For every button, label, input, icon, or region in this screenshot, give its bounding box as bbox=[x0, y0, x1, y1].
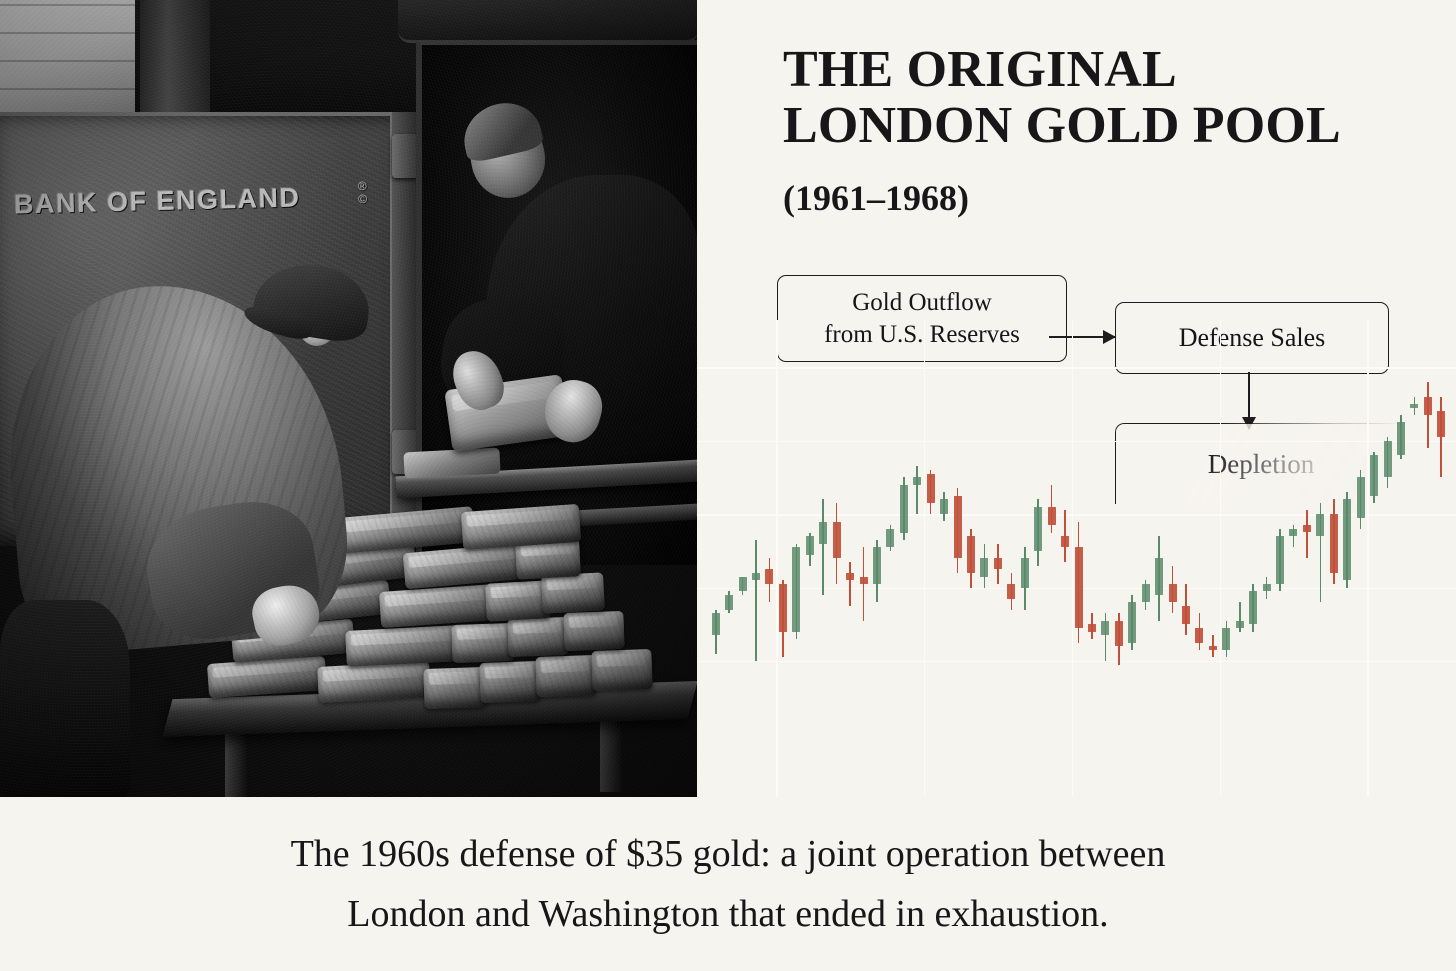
right-panel: THE ORIGINAL LONDON GOLD POOL (1961–1968… bbox=[697, 0, 1456, 797]
candlestick-body bbox=[913, 477, 921, 484]
candlestick bbox=[873, 320, 881, 797]
trolley-leg bbox=[600, 712, 622, 792]
candlestick-body bbox=[1437, 411, 1445, 437]
candlestick-body bbox=[1169, 584, 1177, 602]
candlestick bbox=[712, 320, 720, 797]
candlestick bbox=[967, 320, 975, 797]
candlestick-body bbox=[1357, 477, 1365, 517]
candlestick-body bbox=[994, 558, 1002, 569]
candlestick-body bbox=[1182, 606, 1190, 624]
candlestick bbox=[1276, 320, 1284, 797]
candlestick bbox=[1075, 320, 1083, 797]
candlestick-body bbox=[846, 573, 854, 580]
chart-gridline-vertical bbox=[1072, 320, 1074, 797]
candlestick-body bbox=[1128, 602, 1136, 642]
caption-bar: The 1960s defense of $35 gold: a joint o… bbox=[0, 797, 1456, 971]
candlestick bbox=[886, 320, 894, 797]
candlestick-body bbox=[1343, 499, 1351, 580]
chart-gridline-vertical bbox=[1367, 320, 1369, 797]
candlestick bbox=[1263, 320, 1271, 797]
candlestick bbox=[1128, 320, 1136, 797]
candlestick-body bbox=[940, 499, 948, 514]
candlestick-body bbox=[725, 595, 733, 610]
title-line-2: LONDON GOLD POOL bbox=[783, 98, 1456, 154]
candlestick-body bbox=[954, 496, 962, 558]
caption-line-2: London and Washington that ended in exha… bbox=[347, 893, 1108, 935]
candlestick-body bbox=[927, 474, 935, 503]
candlestick-body bbox=[980, 558, 988, 576]
candlestick bbox=[833, 320, 841, 797]
candlestick bbox=[1101, 320, 1109, 797]
gold-bar bbox=[507, 617, 568, 657]
candlestick-body bbox=[1034, 507, 1042, 551]
page-title: THE ORIGINAL LONDON GOLD POOL bbox=[783, 42, 1456, 154]
candlestick bbox=[980, 320, 988, 797]
copyright-mark-icon: © bbox=[358, 193, 367, 206]
candlestick-body bbox=[1384, 441, 1392, 478]
title-years: (1961–1968) bbox=[783, 178, 969, 218]
candlestick bbox=[1222, 320, 1230, 797]
candlestick bbox=[1021, 320, 1029, 797]
candlestick-body bbox=[1289, 529, 1297, 536]
candlestick bbox=[752, 320, 760, 797]
candlestick-body bbox=[1424, 397, 1432, 415]
archival-vault-photo: BANK OF ENGLAND ® © bbox=[0, 0, 697, 797]
candlestick-wick bbox=[822, 499, 824, 594]
candlestick bbox=[900, 320, 908, 797]
candlestick-body bbox=[712, 613, 720, 635]
candlestick bbox=[1007, 320, 1015, 797]
candlestick bbox=[954, 320, 962, 797]
gold-bar bbox=[345, 625, 463, 667]
candlestick-wick bbox=[755, 540, 757, 661]
candlestick-body bbox=[1397, 422, 1405, 455]
title-line-1: THE ORIGINAL bbox=[783, 41, 1177, 98]
candlestick-wick bbox=[863, 547, 865, 620]
candlestick-body bbox=[1155, 558, 1163, 595]
candlestick bbox=[1289, 320, 1297, 797]
candlestick-body bbox=[1115, 621, 1123, 647]
foreground-worker-leg bbox=[0, 600, 130, 797]
candlestick-body bbox=[1370, 455, 1378, 495]
candlestick bbox=[1115, 320, 1123, 797]
candlestick bbox=[927, 320, 935, 797]
vault-trademark-marks: ® © bbox=[358, 180, 367, 206]
gold-bar bbox=[591, 649, 652, 691]
vault-hinge-upper bbox=[392, 134, 418, 178]
candlestick bbox=[1357, 320, 1365, 797]
candlestick bbox=[806, 320, 814, 797]
candlestick bbox=[1088, 320, 1096, 797]
candlestick bbox=[1303, 320, 1311, 797]
candlestick-body bbox=[1101, 621, 1109, 636]
candlestick-body bbox=[900, 485, 908, 533]
candlestick bbox=[765, 320, 773, 797]
candlestick-body bbox=[806, 536, 814, 554]
candlestick bbox=[1384, 320, 1392, 797]
candlestick bbox=[1343, 320, 1351, 797]
candlestick bbox=[725, 320, 733, 797]
candlestick-body bbox=[765, 569, 773, 584]
candlestick bbox=[1437, 320, 1445, 797]
candlestick-body bbox=[833, 522, 841, 559]
candlestick bbox=[1048, 320, 1056, 797]
candlestick bbox=[1424, 320, 1432, 797]
gold-bar bbox=[317, 661, 431, 703]
candlestick-wick bbox=[1440, 397, 1442, 478]
candlestick-body bbox=[967, 536, 975, 573]
candlestick-body bbox=[779, 584, 787, 632]
candlestick-body bbox=[752, 573, 760, 580]
candlestick-body bbox=[886, 529, 894, 547]
candlestick-wick bbox=[1306, 510, 1308, 558]
candlestick-body bbox=[1330, 514, 1338, 573]
candlestick bbox=[1410, 320, 1418, 797]
caption-text: The 1960s defense of $35 gold: a joint o… bbox=[291, 824, 1166, 944]
candlestick bbox=[1169, 320, 1177, 797]
candlestick bbox=[779, 320, 787, 797]
photo-scene: BANK OF ENGLAND ® © bbox=[0, 0, 697, 797]
candlestick bbox=[860, 320, 868, 797]
candlestick bbox=[1370, 320, 1378, 797]
candlestick bbox=[1142, 320, 1150, 797]
candlestick-wick bbox=[1427, 382, 1429, 448]
gold-bar bbox=[379, 584, 497, 628]
gold-bar bbox=[563, 611, 624, 651]
gold-bar-on-shelf bbox=[403, 448, 500, 479]
candlestick bbox=[1249, 320, 1257, 797]
candlestick-body bbox=[1303, 525, 1311, 532]
candlestick-body bbox=[1021, 558, 1029, 587]
candlestick-wick bbox=[916, 466, 918, 514]
candlestick-body bbox=[819, 522, 827, 544]
candlestick bbox=[1155, 320, 1163, 797]
candlestick bbox=[1397, 320, 1405, 797]
candlestick bbox=[994, 320, 1002, 797]
caption-line-1: The 1960s defense of $35 gold: a joint o… bbox=[291, 833, 1166, 875]
gold-bar bbox=[423, 667, 486, 709]
infographic-canvas: BANK OF ENGLAND ® © bbox=[0, 0, 1456, 971]
candlestick-body bbox=[1222, 628, 1230, 650]
candlestick bbox=[1330, 320, 1338, 797]
candlestick bbox=[1236, 320, 1244, 797]
candlestick bbox=[792, 320, 800, 797]
gold-bar bbox=[207, 656, 327, 698]
candlestick-body bbox=[1410, 404, 1418, 408]
candlestick bbox=[940, 320, 948, 797]
stone-pillar bbox=[140, 0, 210, 120]
candlestick-body bbox=[1195, 628, 1203, 643]
gold-bar bbox=[451, 623, 514, 663]
vault-arch bbox=[398, 0, 697, 43]
candlestick bbox=[913, 320, 921, 797]
candlestick-body bbox=[1209, 646, 1217, 650]
candlestick-body bbox=[1142, 584, 1150, 602]
gold-price-candlestick-chart bbox=[697, 320, 1456, 797]
candlestick bbox=[1034, 320, 1042, 797]
candlestick-wick bbox=[849, 562, 851, 606]
flow-box-gold-outflow-line1: Gold Outflow bbox=[824, 287, 1020, 319]
candlestick bbox=[1182, 320, 1190, 797]
candlestick-body bbox=[1075, 547, 1083, 628]
candlestick-body bbox=[860, 577, 868, 584]
candlestick bbox=[1316, 320, 1324, 797]
candlestick-body bbox=[873, 547, 881, 584]
candlestick bbox=[846, 320, 854, 797]
candlestick-body bbox=[1276, 536, 1284, 584]
candlestick bbox=[1061, 320, 1069, 797]
candlestick-body bbox=[1048, 507, 1056, 525]
gold-bar bbox=[541, 572, 605, 613]
candlestick-body bbox=[1263, 584, 1271, 591]
candlestick bbox=[1195, 320, 1203, 797]
masonry-wall bbox=[0, 0, 135, 118]
candlestick-body bbox=[1061, 536, 1069, 547]
candlestick bbox=[819, 320, 827, 797]
chart-gridline-vertical bbox=[1220, 320, 1222, 797]
gold-bar bbox=[535, 655, 596, 697]
candlestick bbox=[739, 320, 747, 797]
chart-gridline-vertical bbox=[924, 320, 926, 797]
candlestick-body bbox=[792, 547, 800, 631]
candlestick-body bbox=[1249, 591, 1257, 624]
chart-gridline-vertical bbox=[776, 320, 778, 797]
candlestick-body bbox=[739, 577, 747, 592]
candlestick-body bbox=[1007, 584, 1015, 599]
gold-bar bbox=[479, 661, 540, 703]
candlestick-body bbox=[1316, 514, 1324, 536]
candlestick-body bbox=[1236, 621, 1244, 628]
candlestick-body bbox=[1088, 624, 1096, 631]
candlestick bbox=[1209, 320, 1217, 797]
